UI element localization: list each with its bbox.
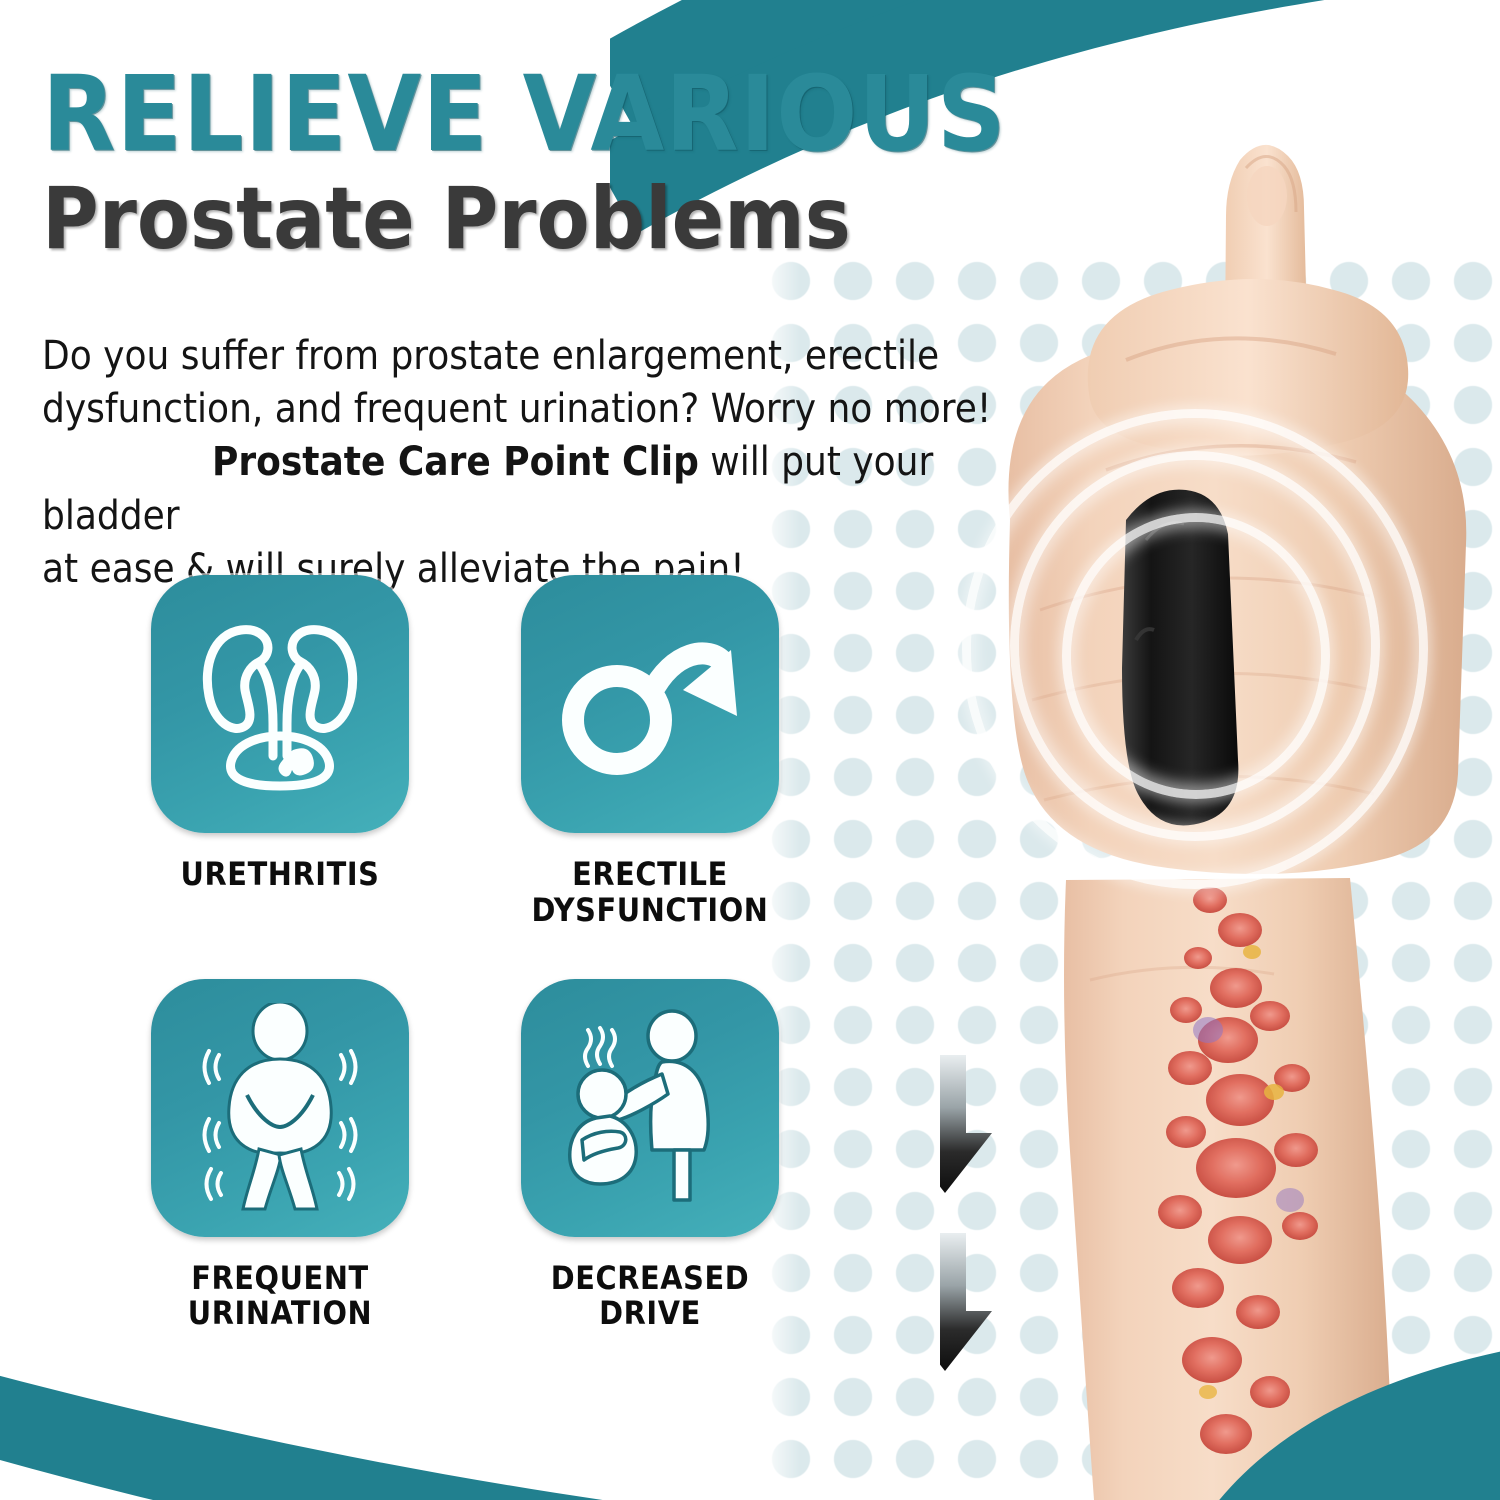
symptom-feature-grid: URETHRITIS ERECTILE DYSFUNCTION bbox=[130, 575, 870, 1332]
feature-label-decreased-drive: DECREASED DRIVE bbox=[551, 1261, 750, 1333]
couple-rejection-icon bbox=[550, 1008, 750, 1208]
male-symbol-drooping-arrow-icon bbox=[555, 624, 745, 784]
vibration-waves bbox=[962, 395, 1432, 885]
vibration-ring-inner bbox=[1062, 513, 1330, 799]
product-photo-composite bbox=[940, 0, 1500, 1500]
product-advertisement: RELIEVE VARIOUS Prostate Problems Do you… bbox=[0, 0, 1500, 1500]
headline-block: RELIEVE VARIOUS Prostate Problems bbox=[42, 62, 988, 264]
person-holding-bladder-icon bbox=[185, 1003, 375, 1213]
body-copy: Do you suffer from prostate enlargement,… bbox=[42, 330, 992, 596]
feature-card-frequent-urination bbox=[151, 979, 409, 1237]
urinary-system-icon bbox=[185, 604, 375, 804]
feature-erectile-dysfunction: ERECTILE DYSFUNCTION bbox=[500, 575, 800, 929]
headline-line-1: RELIEVE VARIOUS bbox=[42, 62, 1007, 166]
headline-line-2: Prostate Problems bbox=[42, 174, 988, 264]
feature-card-urethritis bbox=[151, 575, 409, 833]
body-line-3: Prostate Care Point Clip will put your b… bbox=[42, 436, 992, 542]
feature-card-erectile-dysfunction bbox=[521, 575, 779, 833]
feature-label-frequent-urination: FREQUENT URINATION bbox=[188, 1261, 372, 1333]
body-line-1: Do you suffer from prostate enlargement,… bbox=[42, 330, 992, 383]
feature-urethritis: URETHRITIS bbox=[130, 575, 430, 929]
feature-decreased-drive: DECREASED DRIVE bbox=[500, 979, 800, 1333]
product-name: Prostate Care Point Clip bbox=[212, 439, 699, 485]
body-line-2: dysfunction, and frequent urination? Wor… bbox=[42, 383, 992, 436]
feature-frequent-urination: FREQUENT URINATION bbox=[130, 979, 430, 1333]
feature-card-decreased-drive bbox=[521, 979, 779, 1237]
downward-flow-arrows bbox=[940, 1055, 1010, 1375]
feature-label-urethritis: URETHRITIS bbox=[181, 857, 380, 893]
feature-label-erectile-dysfunction: ERECTILE DYSFUNCTION bbox=[532, 857, 769, 929]
